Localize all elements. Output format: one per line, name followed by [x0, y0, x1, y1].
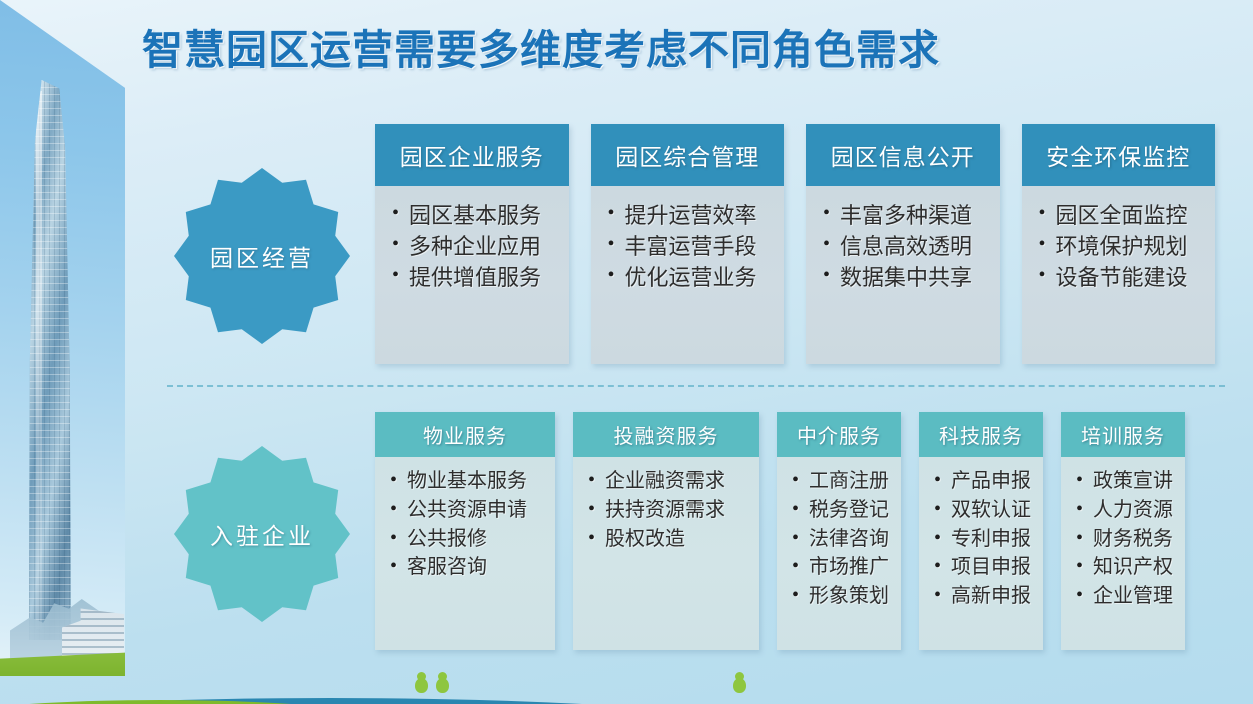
- card-item-list: 物业基本服务公共资源申请公共报修客服咨询: [387, 467, 547, 582]
- card-body: 园区基本服务多种企业应用提供增值服务: [375, 186, 569, 364]
- card-list-item: 优化运营业务: [625, 262, 775, 293]
- card-item-list: 园区全面监控环境保护规划设备节能建设: [1036, 200, 1206, 294]
- card-list-item: 工商注册: [809, 467, 893, 496]
- card-item-list: 产品申报双软认证专利申报项目申报高新申报: [931, 467, 1035, 611]
- card-list-item: 知识产权: [1093, 553, 1177, 582]
- card-list-item: 税务登记: [809, 496, 893, 525]
- card-item-list: 政策宣讲人力资源财务税务知识产权企业管理: [1073, 467, 1177, 611]
- tree-icon: [733, 672, 746, 696]
- skyscraper-shape: [29, 80, 71, 640]
- card-title: 园区信息公开: [806, 124, 1000, 186]
- card-title: 园区企业服务: [375, 124, 569, 186]
- badge-operation-label: 园区经营: [210, 239, 314, 273]
- service-card[interactable]: 培训服务政策宣讲人力资源财务税务知识产权企业管理: [1061, 412, 1185, 650]
- card-title: 投融资服务: [573, 412, 759, 457]
- card-body: 产品申报双软认证专利申报项目申报高新申报: [919, 457, 1043, 650]
- tree-icon: [415, 672, 428, 696]
- card-list-item: 客服咨询: [407, 553, 547, 582]
- card-title: 中介服务: [777, 412, 901, 457]
- card-list-item: 专利申报: [951, 525, 1035, 554]
- tower-photo: [0, 0, 125, 676]
- card-title: 园区综合管理: [591, 124, 785, 186]
- card-list-item: 政策宣讲: [1093, 467, 1177, 496]
- card-list-item: 丰富运营手段: [625, 231, 775, 262]
- card-list-item: 公共资源申请: [407, 496, 547, 525]
- card-list-item: 公共报修: [407, 525, 547, 554]
- card-title: 培训服务: [1061, 412, 1185, 457]
- card-item-list: 工商注册税务登记法律咨询市场推广形象策划: [789, 467, 893, 611]
- service-card[interactable]: 安全环保监控园区全面监控环境保护规划设备节能建设: [1022, 124, 1216, 364]
- badge-tenant-label: 入驻企业: [210, 517, 314, 551]
- tree-icon: [436, 672, 449, 696]
- service-card[interactable]: 园区综合管理提升运营效率丰富运营手段优化运营业务: [591, 124, 785, 364]
- card-item-list: 企业融资需求扶持资源需求股权改造: [585, 467, 751, 553]
- service-card[interactable]: 园区信息公开丰富多种渠道信息高效透明数据集中共享: [806, 124, 1000, 364]
- card-list-item: 市场推广: [809, 553, 893, 582]
- card-list-item: 形象策划: [809, 582, 893, 611]
- card-list-item: 财务税务: [1093, 525, 1177, 554]
- card-list-item: 提供增值服务: [409, 262, 559, 293]
- card-list-item: 数据集中共享: [840, 262, 990, 293]
- card-row-operation: 园区企业服务园区基本服务多种企业应用提供增值服务园区综合管理提升运营效率丰富运营…: [375, 124, 1215, 364]
- card-body: 物业基本服务公共资源申请公共报修客服咨询: [375, 457, 555, 650]
- card-list-item: 项目申报: [951, 553, 1035, 582]
- card-title: 科技服务: [919, 412, 1043, 457]
- service-card[interactable]: 科技服务产品申报双软认证专利申报项目申报高新申报: [919, 412, 1043, 650]
- card-list-item: 园区全面监控: [1056, 200, 1206, 231]
- badge-tenant: 入驻企业: [174, 446, 350, 622]
- card-list-item: 多种企业应用: [409, 231, 559, 262]
- service-card[interactable]: 园区企业服务园区基本服务多种企业应用提供增值服务: [375, 124, 569, 364]
- card-title: 物业服务: [375, 412, 555, 457]
- green-hill: [0, 648, 1253, 704]
- card-list-item: 环境保护规划: [1056, 231, 1206, 262]
- blue-wave: [0, 642, 1253, 704]
- card-item-list: 丰富多种渠道信息高效透明数据集中共享: [820, 200, 990, 294]
- glass-highlight: [36, 91, 42, 629]
- card-list-item: 人力资源: [1093, 496, 1177, 525]
- card-list-item: 扶持资源需求: [605, 496, 751, 525]
- card-list-item: 信息高效透明: [840, 231, 990, 262]
- slide-root: 智慧园区运营需要多维度考虑不同角色需求 园区经营 入驻企业 园区企业服务园区基本…: [0, 0, 1253, 704]
- card-list-item: 企业管理: [1093, 582, 1177, 611]
- card-list-item: 提升运营效率: [625, 200, 775, 231]
- card-list-item: 高新申报: [951, 582, 1035, 611]
- card-row-tenant: 物业服务物业基本服务公共资源申请公共报修客服咨询投融资服务企业融资需求扶持资源需…: [375, 412, 1215, 650]
- card-body: 企业融资需求扶持资源需求股权改造: [573, 457, 759, 650]
- card-list-item: 产品申报: [951, 467, 1035, 496]
- card-list-item: 双软认证: [951, 496, 1035, 525]
- card-body: 提升运营效率丰富运营手段优化运营业务: [591, 186, 785, 364]
- card-body: 工商注册税务登记法律咨询市场推广形象策划: [777, 457, 901, 650]
- card-list-item: 设备节能建设: [1056, 262, 1206, 293]
- card-body: 丰富多种渠道信息高效透明数据集中共享: [806, 186, 1000, 364]
- card-item-list: 园区基本服务多种企业应用提供增值服务: [389, 200, 559, 294]
- card-list-item: 丰富多种渠道: [840, 200, 990, 231]
- card-list-item: 园区基本服务: [409, 200, 559, 231]
- page-title: 智慧园区运营需要多维度考虑不同角色需求: [142, 16, 1142, 78]
- service-card[interactable]: 中介服务工商注册税务登记法律咨询市场推广形象策划: [777, 412, 901, 650]
- badge-operation: 园区经营: [174, 168, 350, 344]
- card-list-item: 法律咨询: [809, 525, 893, 554]
- card-list-item: 物业基本服务: [407, 467, 547, 496]
- card-list-item: 企业融资需求: [605, 467, 751, 496]
- card-body: 园区全面监控环境保护规划设备节能建设: [1022, 186, 1216, 364]
- service-card[interactable]: 投融资服务企业融资需求扶持资源需求股权改造: [573, 412, 759, 650]
- card-title: 安全环保监控: [1022, 124, 1216, 186]
- card-body: 政策宣讲人力资源财务税务知识产权企业管理: [1061, 457, 1185, 650]
- service-card[interactable]: 物业服务物业基本服务公共资源申请公共报修客服咨询: [375, 412, 555, 650]
- card-item-list: 提升运营效率丰富运营手段优化运营业务: [605, 200, 775, 294]
- section-divider: [167, 385, 1225, 387]
- card-list-item: 股权改造: [605, 525, 751, 554]
